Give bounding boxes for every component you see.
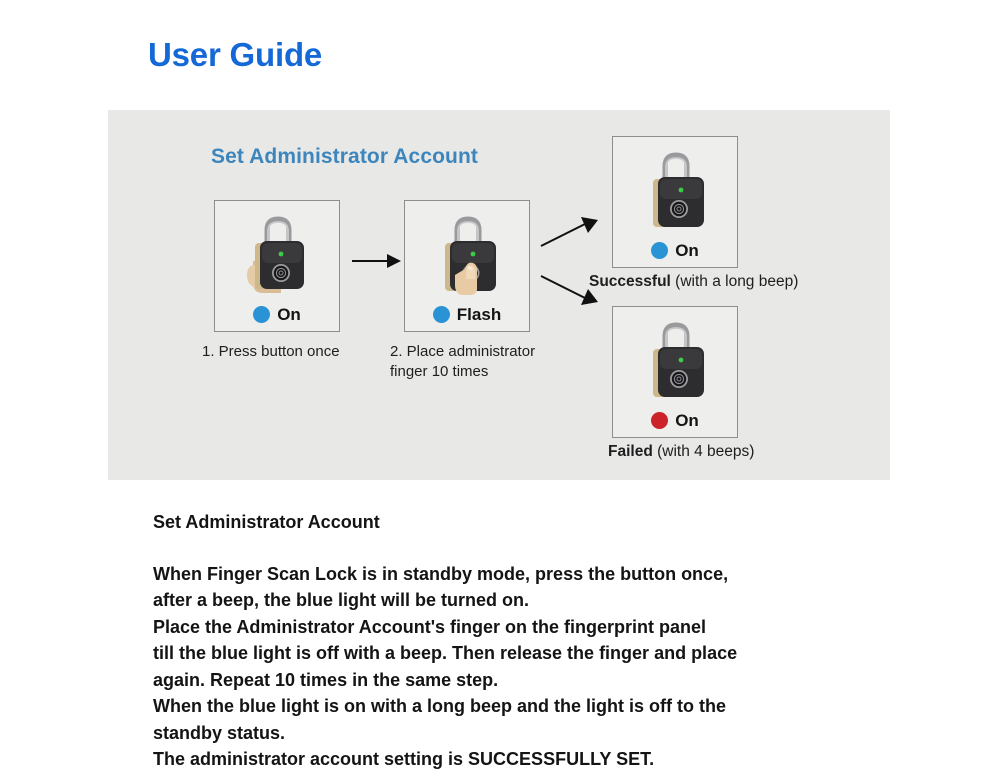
result-failed-caption-strong: Failed [608,443,653,460]
step-2-card: Flash [404,200,530,332]
result-failed-status-label: On [675,412,699,429]
body-heading: Set Administrator Account [153,512,380,533]
result-failed-status: On [613,412,737,429]
result-successful-status: On [613,242,737,259]
step-2-status-label: Flash [457,306,501,323]
diagram-heading: Set Administrator Account [211,145,478,169]
result-successful-card: On [612,136,738,268]
page-title: User Guide [148,36,322,74]
status-dot-red-icon [651,412,668,429]
step-1-status-label: On [277,306,301,323]
result-successful-caption-rest: (with a long beep) [671,273,799,290]
diagram-panel: Set Administrator Account [108,110,890,480]
step-1-status: On [215,306,339,323]
step-2-status: Flash [405,306,529,323]
result-successful-status-label: On [675,242,699,259]
status-dot-blue-icon [433,306,450,323]
step-2-caption: 2. Place administrator finger 10 times [390,342,575,383]
padlock-fingerprint-icon [231,213,323,297]
result-failed-caption: Failed (with 4 beeps) [608,443,754,461]
padlock-fingerprint-icon [629,149,721,233]
body-paragraph: When Finger Scan Lock is in standby mode… [153,561,893,773]
result-failed-card: On [612,306,738,438]
result-failed-caption-rest: (with 4 beeps) [653,443,755,460]
step-1-card: On [214,200,340,332]
padlock-fingerprint-icon [629,319,721,403]
arrow-right-icon [351,251,403,271]
status-dot-blue-icon [651,242,668,259]
result-successful-caption-strong: Successful [589,273,671,290]
status-dot-blue-icon [253,306,270,323]
result-successful-caption: Successful (with a long beep) [589,273,798,291]
padlock-fingerprint-icon [421,213,513,297]
step-1-caption: 1. Press button once [202,342,377,362]
arrow-up-right-icon [539,216,601,250]
